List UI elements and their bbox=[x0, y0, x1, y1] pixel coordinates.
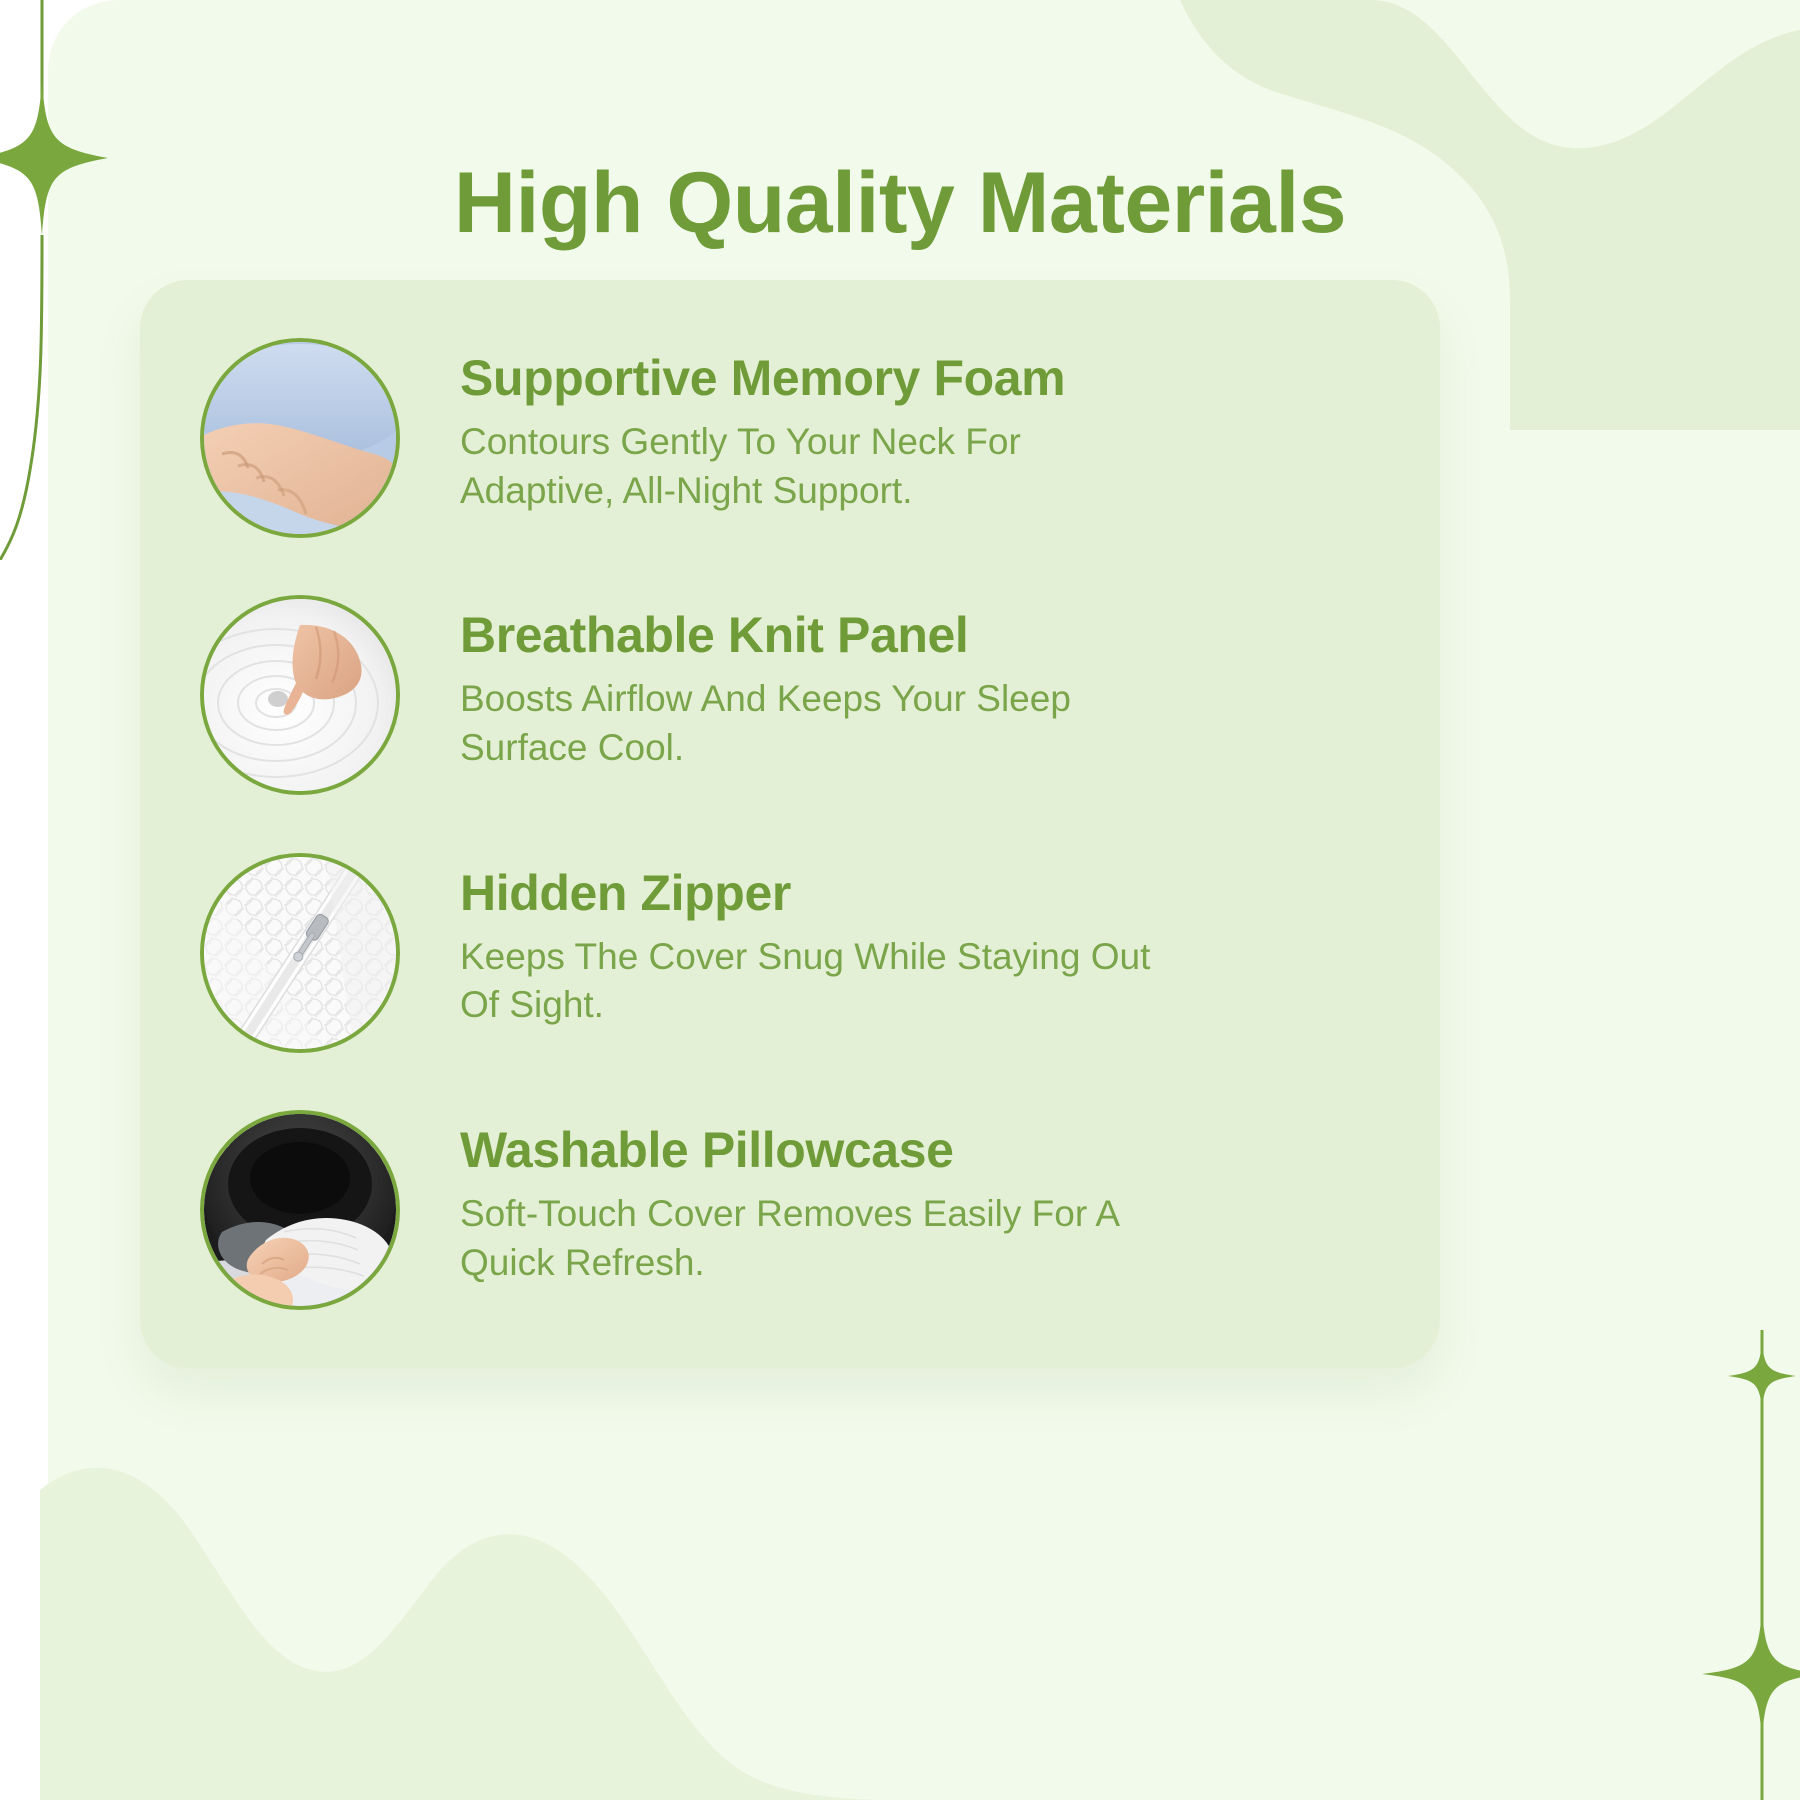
four-point-star-icon bbox=[1702, 1610, 1800, 1738]
feature-text: Supportive Memory Foam Contours Gently T… bbox=[460, 338, 1180, 516]
feature-description: Contours Gently To Your Neck For Adaptiv… bbox=[460, 418, 1180, 516]
feature-text: Washable Pillowcase Soft-Touch Cover Rem… bbox=[460, 1110, 1180, 1288]
page-title: High Quality Materials bbox=[0, 158, 1800, 248]
decoration-right-sparkle-line bbox=[1650, 1310, 1800, 1800]
feature-row: Supportive Memory Foam Contours Gently T… bbox=[200, 338, 1380, 538]
feature-title: Hidden Zipper bbox=[460, 865, 1180, 921]
feature-description: Boosts Airflow And Keeps Your Sleep Surf… bbox=[460, 675, 1180, 773]
feature-title: Supportive Memory Foam bbox=[460, 350, 1180, 406]
feature-text: Hidden Zipper Keeps The Cover Snug While… bbox=[460, 853, 1180, 1031]
feature-description: Keeps The Cover Snug While Staying Out O… bbox=[460, 933, 1180, 1031]
feature-row: Hidden Zipper Keeps The Cover Snug While… bbox=[200, 853, 1380, 1053]
feature-description: Soft-Touch Cover Removes Easily For A Qu… bbox=[460, 1190, 1180, 1288]
feature-title: Washable Pillowcase bbox=[460, 1122, 1180, 1178]
washing-machine-pillowcase-photo bbox=[200, 1110, 400, 1310]
feature-row: Washable Pillowcase Soft-Touch Cover Rem… bbox=[200, 1110, 1380, 1310]
feature-card: Supportive Memory Foam Contours Gently T… bbox=[140, 280, 1440, 1368]
feature-list: Supportive Memory Foam Contours Gently T… bbox=[200, 338, 1380, 1310]
memory-foam-pillow-photo bbox=[200, 338, 400, 538]
feature-row: Breathable Knit Panel Boosts Airflow And… bbox=[200, 595, 1380, 795]
infographic-canvas: High Quality Materials bbox=[0, 0, 1800, 1800]
feature-text: Breathable Knit Panel Boosts Airflow And… bbox=[460, 595, 1180, 773]
knit-panel-fabric-photo bbox=[200, 595, 400, 795]
hidden-zipper-photo bbox=[200, 853, 400, 1053]
four-point-star-icon bbox=[1728, 1340, 1796, 1412]
feature-title: Breathable Knit Panel bbox=[460, 607, 1180, 663]
